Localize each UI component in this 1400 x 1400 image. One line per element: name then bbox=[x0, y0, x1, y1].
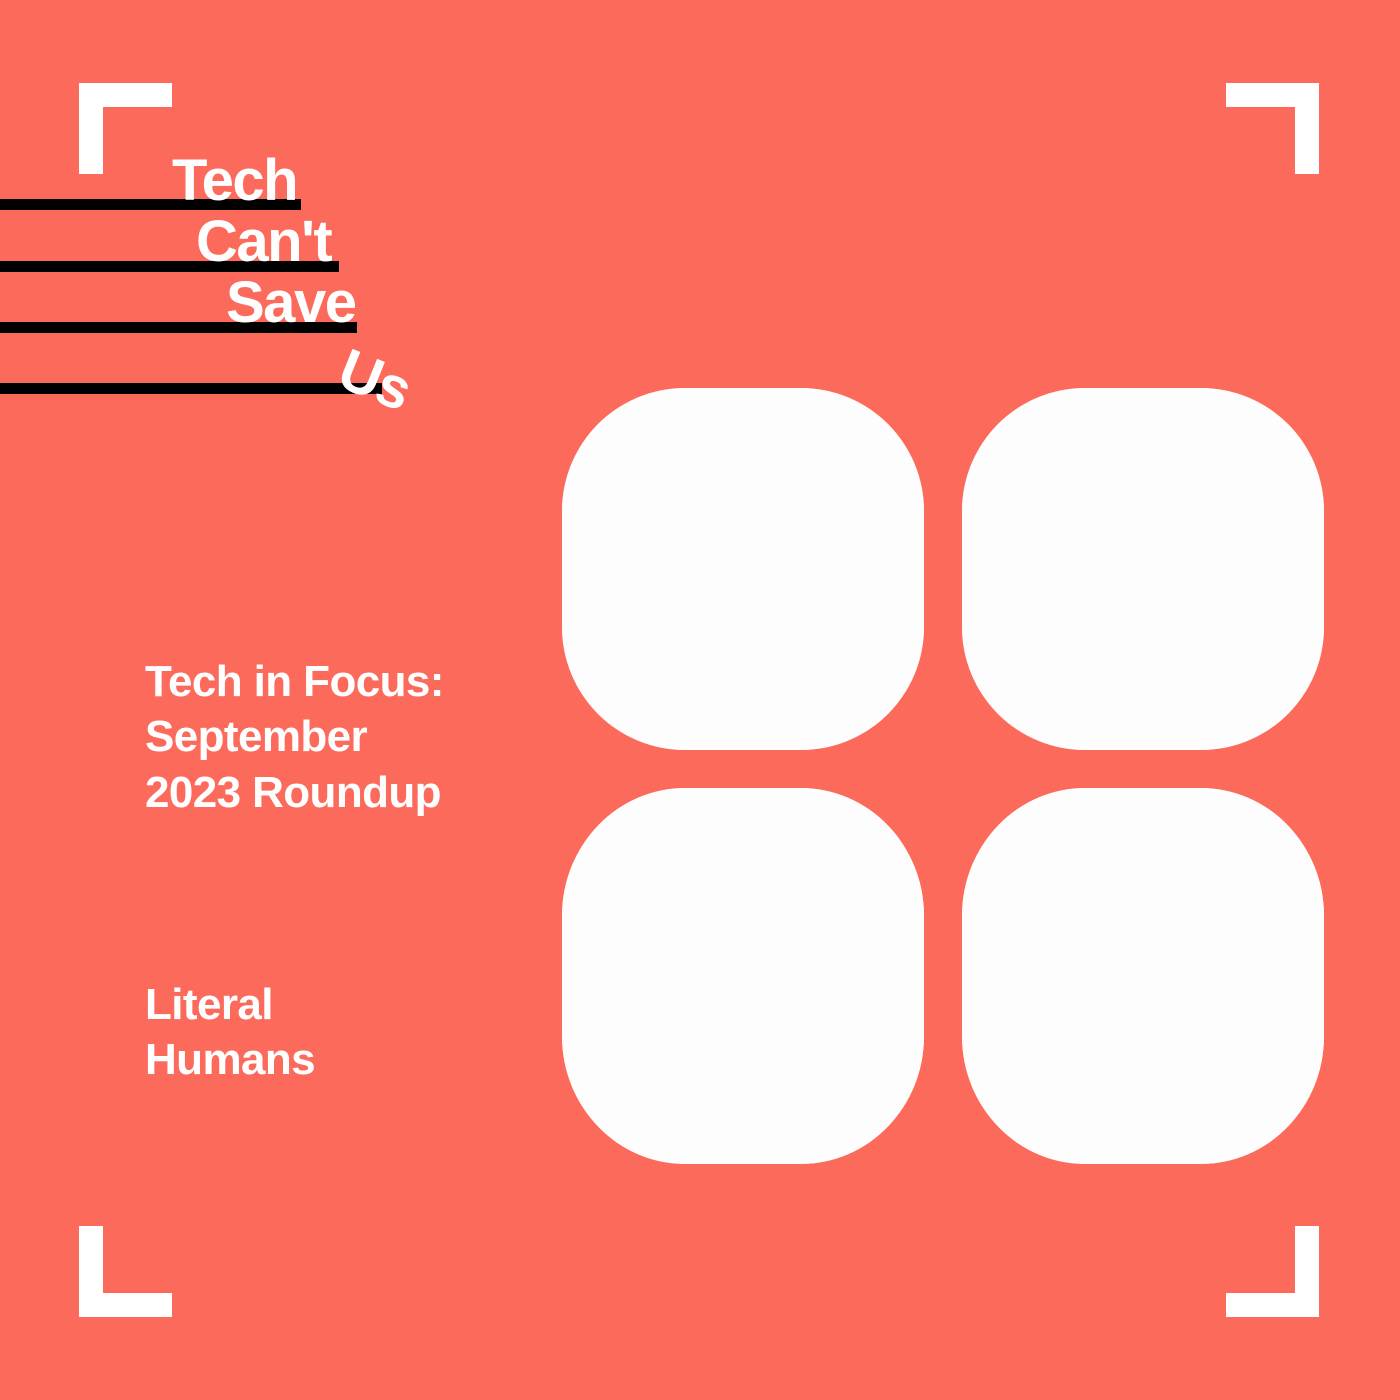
portrait-card-top-right bbox=[962, 388, 1324, 750]
logo-word-cant: Can't bbox=[196, 214, 331, 269]
podcast-logo: Tech Can't Save Us bbox=[0, 140, 520, 430]
logo-word-tech: Tech bbox=[172, 153, 297, 208]
logo-bar-4 bbox=[0, 383, 382, 394]
podcast-cover-art: Tech Can't Save Us Tech in Focus: Septem… bbox=[0, 0, 1400, 1400]
portrait-card-top-left bbox=[562, 388, 924, 750]
brand-name-line-2: Humans bbox=[145, 1033, 545, 1088]
episode-title-line-3: 2023 Roundup bbox=[145, 765, 565, 820]
bracket-bottom-left-icon bbox=[79, 1226, 172, 1317]
portrait-photo-top-right bbox=[962, 388, 1324, 750]
portrait-card-bottom-right bbox=[962, 788, 1324, 1164]
host-portrait-grid bbox=[562, 388, 1324, 1164]
episode-title: Tech in Focus: September 2023 Roundup bbox=[145, 654, 565, 820]
logo-word-us: Us bbox=[331, 341, 418, 419]
episode-title-line-2: September bbox=[145, 709, 565, 764]
episode-title-line-1: Tech in Focus: bbox=[145, 654, 565, 709]
brand-name: Literal Humans bbox=[145, 978, 545, 1087]
logo-word-save: Save bbox=[226, 275, 355, 330]
portrait-photo-bottom-left bbox=[562, 788, 924, 1164]
brand-name-line-1: Literal bbox=[145, 978, 545, 1033]
portrait-photo-top-left bbox=[562, 388, 924, 750]
bracket-top-right-icon bbox=[1226, 83, 1319, 174]
portrait-photo-bottom-right bbox=[962, 788, 1324, 1164]
portrait-card-bottom-left bbox=[562, 788, 924, 1164]
bracket-bottom-right-icon bbox=[1226, 1226, 1319, 1317]
